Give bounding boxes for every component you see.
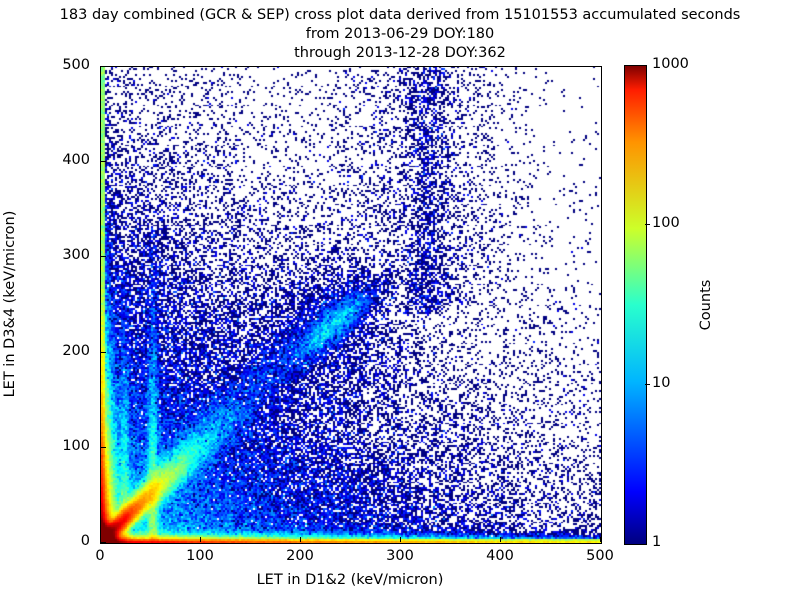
plot-area bbox=[100, 66, 602, 544]
x-tick-label: 400 bbox=[470, 548, 530, 564]
colorbar-tick-mark bbox=[645, 384, 650, 385]
x-tick-label: 500 bbox=[570, 548, 630, 564]
figure-canvas: 183 day combined (GCR & SEP) cross plot … bbox=[0, 0, 800, 600]
y-tick-label: 0 bbox=[46, 533, 90, 549]
colorbar-tick-label: 1 bbox=[652, 534, 661, 550]
y-tick-label: 100 bbox=[46, 438, 90, 454]
y-tick-label: 200 bbox=[46, 343, 90, 359]
x-tick-mark bbox=[400, 537, 401, 542]
colorbar bbox=[624, 65, 647, 545]
y-tick-mark bbox=[101, 447, 106, 448]
x-tick-mark bbox=[500, 537, 501, 542]
x-tick-mark bbox=[100, 537, 101, 542]
y-tick-mark bbox=[101, 352, 106, 353]
colorbar-tick-label: 100 bbox=[652, 215, 680, 231]
y-tick-label: 300 bbox=[46, 247, 90, 263]
title-line-1: 183 day combined (GCR & SEP) cross plot … bbox=[0, 6, 800, 25]
title-line-2: from 2013-06-29 DOY:180 bbox=[0, 25, 800, 44]
y-axis-label: LET in D3&4 (keV/micron) bbox=[2, 211, 18, 398]
y-tick-mark bbox=[101, 66, 106, 67]
x-tick-mark bbox=[200, 537, 201, 542]
x-tick-label: 300 bbox=[370, 548, 430, 564]
colorbar-tick-label: 10 bbox=[652, 375, 670, 391]
x-tick-label: 0 bbox=[70, 548, 130, 564]
y-tick-label: 400 bbox=[46, 152, 90, 168]
colorbar-tick-label: 1000 bbox=[652, 56, 689, 72]
y-tick-mark bbox=[101, 161, 106, 162]
x-tick-mark bbox=[600, 537, 601, 542]
x-axis-label: LET in D1&2 (keV/micron) bbox=[257, 572, 444, 588]
y-tick-mark bbox=[101, 256, 106, 257]
colorbar-tick-mark bbox=[645, 224, 650, 225]
x-tick-mark bbox=[300, 537, 301, 542]
colorbar-gradient bbox=[625, 66, 646, 544]
y-tick-mark bbox=[101, 542, 106, 543]
colorbar-label: Counts bbox=[698, 280, 714, 331]
x-tick-label: 200 bbox=[270, 548, 330, 564]
x-tick-label: 100 bbox=[170, 548, 230, 564]
figure-title: 183 day combined (GCR & SEP) cross plot … bbox=[0, 6, 800, 63]
scatter-heatmap bbox=[101, 67, 601, 543]
y-tick-label: 500 bbox=[46, 57, 90, 73]
